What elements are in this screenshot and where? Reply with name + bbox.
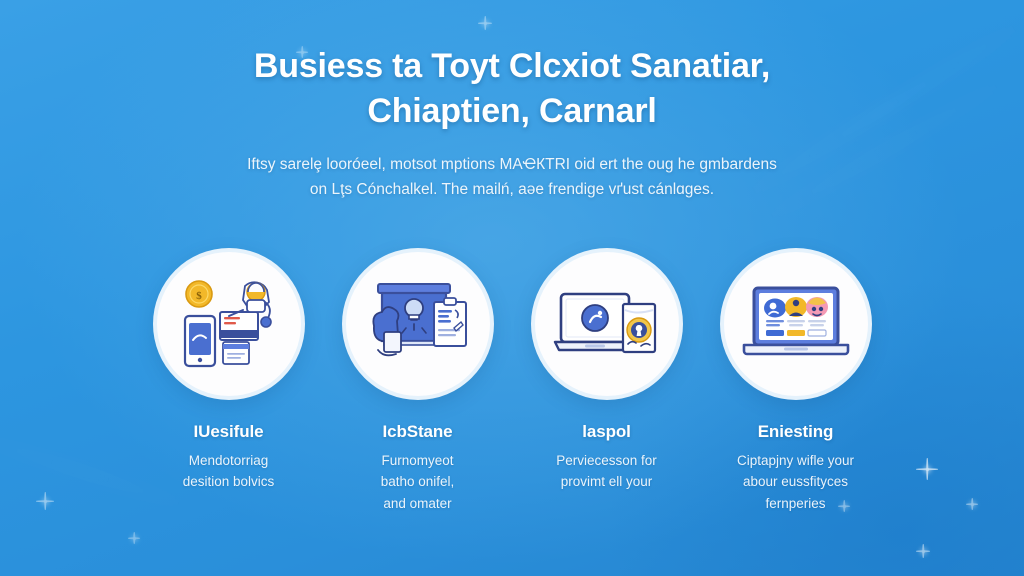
feature-body-line-2: desition bolvics [183, 471, 275, 492]
svg-text:$: $ [196, 290, 202, 302]
sparkle-decoration [128, 532, 140, 544]
presentation-idea-clipboard-icon [362, 272, 474, 376]
feature-card[interactable]: Eniesting Ciptapjny wifle your abour eus… [717, 248, 874, 514]
feature-card-row: $ [0, 248, 1024, 514]
feature-icon-circle [531, 248, 683, 400]
slide-header: Busiess ta Toyt Clcxiot Sanatiar, Chiapt… [0, 44, 1024, 202]
subtitle-line-2: on Lţs Cónchalkel. The mailń, aəe frendi… [162, 177, 862, 202]
feature-card-body: Perviecesson for provimt ell your [556, 450, 657, 493]
sparkle-decoration [916, 544, 930, 558]
title-line-1: Busiess ta Toyt Clcxiot Sanatiar, [150, 44, 874, 89]
feature-body-line-2: provimt ell your [556, 471, 657, 492]
mobile-payment-coin-icon: $ [173, 272, 285, 376]
feature-body-line-1: Mendotorriag [183, 450, 275, 471]
feature-card-title: IUesifule [194, 422, 264, 442]
feature-body-line-3: fernperies [737, 493, 854, 514]
feature-body-line-2: batho onifel, [381, 471, 455, 492]
sparkle-decoration [478, 16, 492, 30]
feature-card[interactable]: IcbStane Furnomyeot batho onifel, and om… [339, 248, 496, 514]
page-title: Busiess ta Toyt Clcxiot Sanatiar, Chiapt… [0, 44, 1024, 134]
feature-body-line-1: Furnomyeot [381, 450, 455, 471]
feature-card-title: Eniesting [758, 422, 834, 442]
feature-card-body: Ciptapjny wifle your abour eussfityces f… [737, 450, 854, 514]
laptop-document-icon [551, 272, 663, 376]
title-line-2: Chiaptien, Carnarl [150, 89, 874, 134]
feature-icon-circle: $ [153, 248, 305, 400]
feature-icon-circle [342, 248, 494, 400]
slide-canvas: Busiess ta Toyt Clcxiot Sanatiar, Chiapt… [0, 0, 1024, 576]
feature-card-title: laspol [582, 422, 631, 442]
laptop-team-profiles-icon [740, 272, 852, 376]
page-subtitle: Iftsу sarelȩ looróeel, motsot mptions M… [162, 152, 862, 202]
feature-card-body: Furnomyeot batho onifel, and omater [381, 450, 455, 514]
feature-card-title: IcbStane [382, 422, 452, 442]
feature-icon-circle [720, 248, 872, 400]
feature-card[interactable]: $ [150, 248, 307, 493]
feature-body-line-2: abour eussfityces [737, 471, 854, 492]
feature-body-line-1: Ciptapjny wifle your [737, 450, 854, 471]
feature-card-body: Mendotorriag desition bolvics [183, 450, 275, 493]
feature-card[interactable]: laspol Perviecesson for provimt ell your [528, 248, 685, 493]
subtitle-line-1: Iftsу sarelȩ looróeel, motsot mptions M… [162, 152, 862, 177]
feature-body-line-3: and omater [381, 493, 455, 514]
feature-body-line-1: Perviecesson for [556, 450, 657, 471]
